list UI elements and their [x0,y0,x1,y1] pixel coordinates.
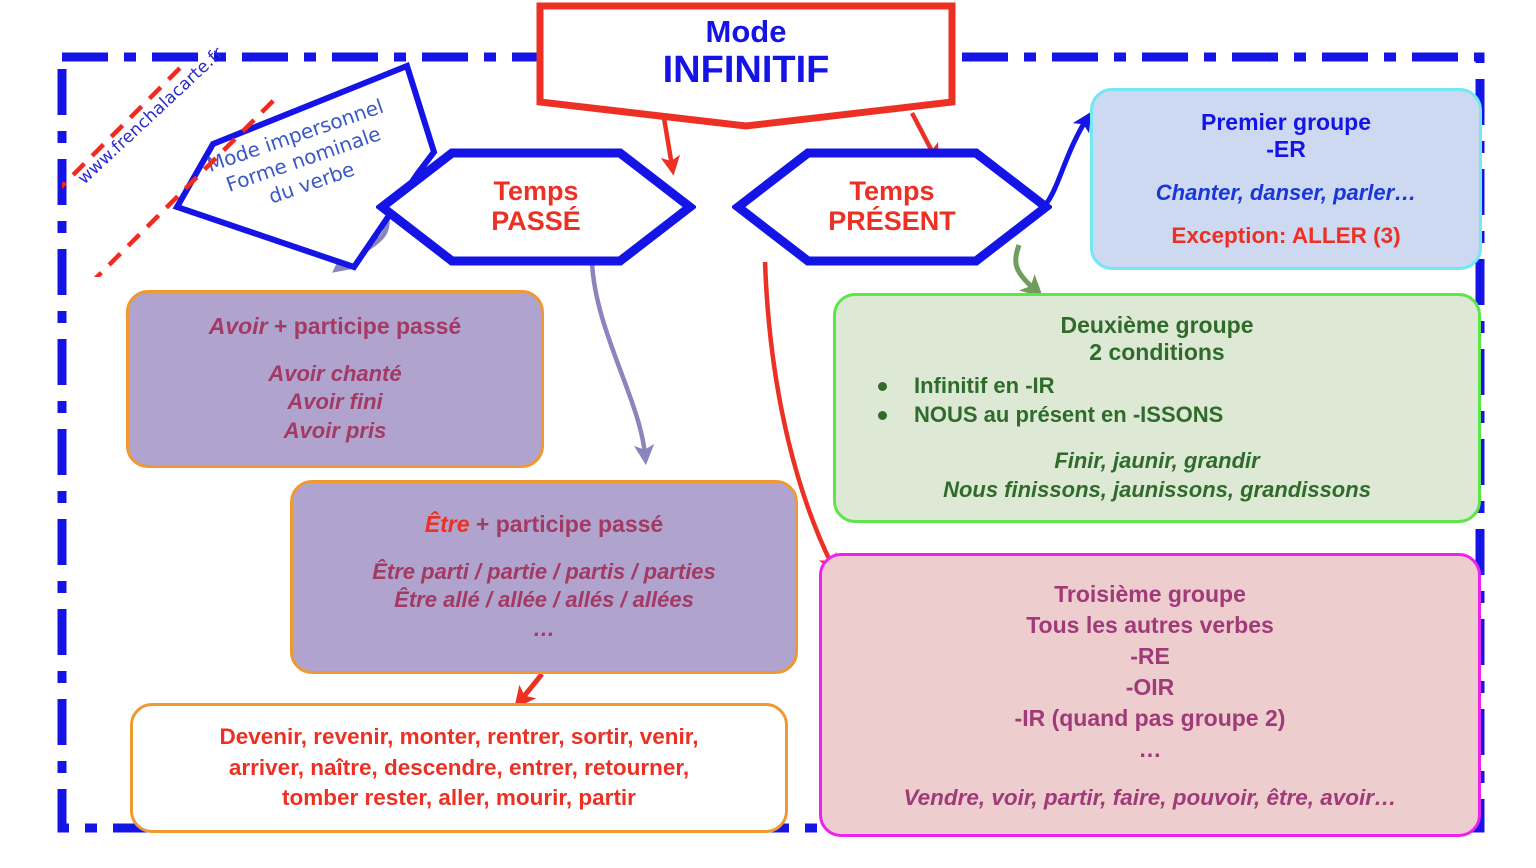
hexagon-passe-text: Temps PASSÉ [376,148,696,266]
hexagon-temps-passe[interactable]: Temps PASSÉ [376,148,696,266]
group3-box: Troisième groupe Tous les autres verbes … [819,553,1481,837]
hexagon-passe-line-2: PASSÉ [491,207,581,237]
arrow-passe-to-etre [592,262,645,455]
avoir-head: Avoir + participe passé [129,313,541,340]
group2-example-1: Finir, jaunir, grandir [836,447,1478,476]
avoir-head-emphasis: Avoir [209,313,268,339]
group2-head-1: Deuxième groupe [836,312,1478,340]
etre-head: Être + participe passé [293,511,795,538]
avoir-example-1: Avoir chanté [129,360,541,388]
group2-head: Deuxième groupe 2 conditions [836,312,1478,367]
group2-condition-1: Infinitif en -IR [862,371,1478,400]
etre-examples: Être parti / partie / partis / parties Ê… [293,558,795,642]
etre-box: Être + participe passé Être parti / part… [290,480,798,674]
hexagon-present-text: Temps PRÉSENT [732,148,1052,266]
avoir-examples: Avoir chanté Avoir fini Avoir pris [129,360,541,444]
hexagon-passe-line-1: Temps [493,177,578,207]
group1-exception: Exception: ALLER (3) [1093,223,1479,249]
verb-list-box: Devenir, revenir, monter, rentrer, sorti… [130,703,788,833]
group1-examples: Chanter, danser, parler… [1093,180,1479,206]
group2-box: Deuxième groupe 2 conditions Infinitif e… [833,293,1481,523]
etre-example-2: Être allé / allée / allés / allées [293,586,795,614]
group2-condition-2: NOUS au présent en -ISSONS [862,400,1478,429]
hexagon-temps-present[interactable]: Temps PRÉSENT [732,148,1052,266]
group3-examples: Vendre, voir, partir, faire, pouvoir, êt… [822,785,1478,811]
group2-conditions: Infinitif en -IR NOUS au présent en -ISS… [836,371,1478,429]
group3-head-6: … [822,734,1478,765]
avoir-example-2: Avoir fini [129,388,541,416]
banner-line-1: Mode [706,16,787,49]
title-banner: Mode INFINITIF [536,2,956,132]
group3-head-1: Troisième groupe [822,579,1478,610]
hexagon-present-line-2: PRÉSENT [828,207,956,237]
group2-examples: Finir, jaunir, grandir Nous finissons, j… [836,447,1478,504]
avoir-head-rest: + participe passé [268,313,462,339]
etre-example-3: … [293,615,795,643]
banner-line-2: INFINITIF [663,51,830,91]
etre-head-emphasis: Être [425,511,470,537]
avoir-example-3: Avoir pris [129,417,541,445]
diagram-canvas: Mode INFINITIF www.frenchalacarte.fr Mod… [0,0,1536,868]
group1-head: Premier groupe -ER [1093,109,1479,163]
group1-box: Premier groupe -ER Chanter, danser, parl… [1090,88,1482,270]
verb-line-1: Devenir, revenir, monter, rentrer, sorti… [149,722,769,752]
group3-head-5: -IR (quand pas groupe 2) [822,703,1478,734]
group1-head-1: Premier groupe [1093,109,1479,136]
group3-head: Troisième groupe Tous les autres verbes … [822,579,1478,765]
group1-head-2: -ER [1093,136,1479,163]
etre-head-rest: + participe passé [470,511,664,537]
avoir-box: Avoir + participe passé Avoir chanté Avo… [126,290,544,468]
group3-head-2: Tous les autres verbes [822,610,1478,641]
verb-line-2: arriver, naître, descendre, entrer, reto… [149,753,769,783]
etre-example-1: Être parti / partie / partis / parties [293,558,795,586]
verb-line-3: tomber rester, aller, mourir, partir [149,783,769,813]
group2-head-2: 2 conditions [836,339,1478,367]
group2-example-2: Nous finissons, jaunissons, grandissons [836,476,1478,505]
group3-head-4: -OIR [822,672,1478,703]
hexagon-present-line-1: Temps [849,177,934,207]
group3-head-3: -RE [822,641,1478,672]
arrow-etre-to-verbs [521,674,542,700]
